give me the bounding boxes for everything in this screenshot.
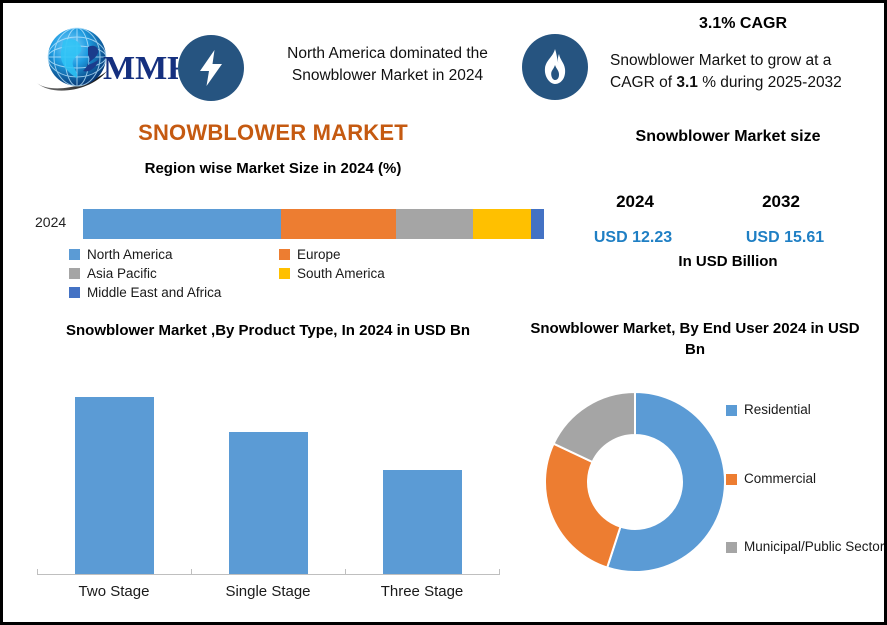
legend-label: Middle East and Africa xyxy=(87,285,221,300)
legend-label: North America xyxy=(87,247,173,262)
market-size-title: Snowblower Market size xyxy=(573,128,883,146)
region-segment-north-america xyxy=(83,209,281,239)
region-segment-europe xyxy=(281,209,396,239)
cagr-note: Snowblower Market to grow at a CAGR of 3… xyxy=(610,50,880,94)
legend-label: Asia Pacific xyxy=(87,266,157,281)
north-america-dominance-note: North America dominated the Snowblower M… xyxy=(275,43,500,87)
legend-label: Commercial xyxy=(744,470,816,488)
bar-three-stage xyxy=(383,470,462,574)
legend-item-municipal-public-sector: Municipal/Public Sector xyxy=(726,538,886,556)
region-chart-legend: North AmericaEuropeAsia PacificSouth Ame… xyxy=(69,245,489,302)
legend-swatch-icon xyxy=(69,268,80,279)
legend-item-asia-pacific: Asia Pacific xyxy=(69,264,279,283)
region-segment-south-america xyxy=(473,209,530,239)
market-size-start-value: USD 12.23 xyxy=(573,229,693,247)
axis-tick xyxy=(345,569,346,575)
bar-category-label: Three Stage xyxy=(345,583,499,600)
axis-tick xyxy=(37,569,38,575)
cagr-note-post: % during 2025-2032 xyxy=(698,74,842,91)
cagr-headline: 3.1% CAGR xyxy=(603,15,883,33)
region-chart-subtitle: Region wise Market Size in 2024 (%) xyxy=(63,160,483,177)
legend-swatch-icon xyxy=(69,287,80,298)
cagr-value: 3.1 xyxy=(676,74,698,91)
product-type-chart-title: Snowblower Market ,By Product Type, In 2… xyxy=(48,321,488,342)
region-stacked-bar xyxy=(83,209,544,239)
market-size-end-value: USD 15.61 xyxy=(725,229,845,247)
legend-label: Residential xyxy=(744,401,811,419)
legend-label: South America xyxy=(297,266,385,281)
market-size-end-year: 2032 xyxy=(721,192,841,212)
product-type-plot-area xyxy=(33,383,503,574)
legend-swatch-icon xyxy=(279,249,290,260)
legend-label: Municipal/Public Sector xyxy=(744,538,884,556)
mmr-logo: MMR xyxy=(33,21,178,97)
donut-slice-commercial xyxy=(545,444,620,568)
legend-item-residential: Residential xyxy=(726,401,886,419)
legend-swatch-icon xyxy=(726,405,737,416)
market-size-unit: In USD Billion xyxy=(593,253,863,270)
bar-category-label: Two Stage xyxy=(37,583,191,600)
region-segment-middle-east-and-africa xyxy=(531,209,544,239)
bar-two-stage xyxy=(75,397,154,574)
lightning-bolt-icon xyxy=(178,35,244,101)
region-segment-asia-pacific xyxy=(396,209,473,239)
product-type-axis-line xyxy=(37,574,499,575)
market-size-start-year: 2024 xyxy=(575,192,695,212)
legend-swatch-icon xyxy=(726,474,737,485)
region-bar-axis-label: 2024 xyxy=(35,214,66,230)
bar-category-label: Single Stage xyxy=(191,583,345,600)
mmr-logo-text: MMR xyxy=(103,50,178,87)
legend-swatch-icon xyxy=(279,268,290,279)
end-user-donut-chart xyxy=(545,392,725,572)
legend-swatch-icon xyxy=(726,542,737,553)
legend-item-commercial: Commercial xyxy=(726,470,886,488)
axis-tick xyxy=(499,569,500,575)
bar-single-stage xyxy=(229,432,308,574)
product-type-bar-chart: Two StageSingle StageThree Stage xyxy=(33,383,503,613)
infographic-page: MMR North America dominated the Snowblow… xyxy=(0,0,887,625)
end-user-chart-title: Snowblower Market, By End User 2024 in U… xyxy=(530,319,860,360)
legend-label: Europe xyxy=(297,247,341,262)
legend-item-europe: Europe xyxy=(279,245,489,264)
axis-tick xyxy=(191,569,192,575)
legend-item-north-america: North America xyxy=(69,245,279,264)
end-user-chart-legend: ResidentialCommercialMunicipal/Public Se… xyxy=(726,401,886,556)
flame-icon xyxy=(522,34,588,100)
legend-swatch-icon xyxy=(69,249,80,260)
page-title: SNOWBLOWER MARKET xyxy=(63,120,483,146)
legend-item-south-america: South America xyxy=(279,264,489,283)
legend-item-middle-east-and-africa: Middle East and Africa xyxy=(69,283,489,302)
